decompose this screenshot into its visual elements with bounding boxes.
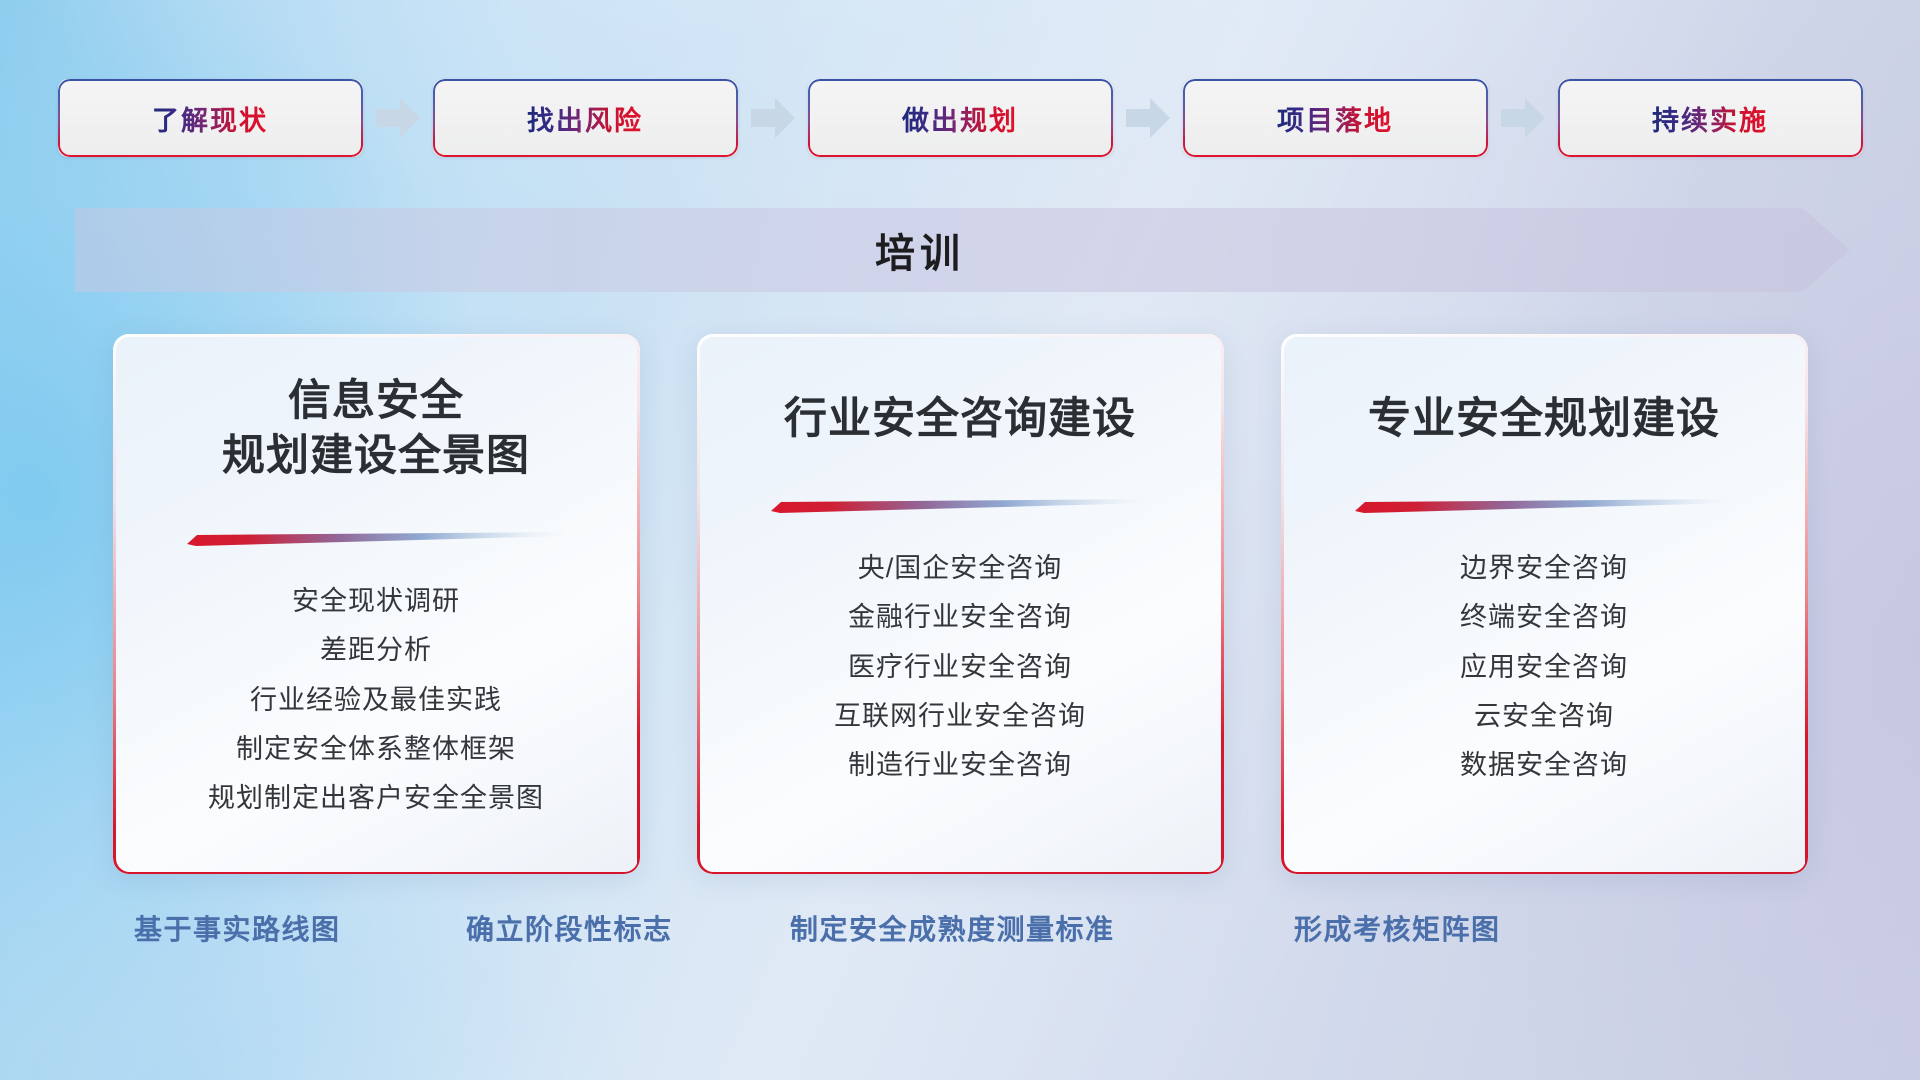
process-step-label: 做出规划: [902, 99, 1018, 138]
list-item: 云安全咨询: [1474, 697, 1614, 735]
card-0[interactable]: 信息安全 规划建设全景图: [113, 334, 640, 874]
card-item-list: 安全现状调研 差距分析 行业经验及最佳实践 制定安全体系整体框架 规划制定出客户…: [139, 582, 614, 818]
process-step-4[interactable]: 持续实施: [1558, 79, 1863, 157]
process-step-1[interactable]: 找出风险: [433, 79, 738, 157]
footer-label-2: 制定安全成熟度测量标准: [790, 908, 1115, 948]
training-band-label: 培训: [75, 208, 1765, 292]
card-1[interactable]: 行业安全咨询建设: [697, 334, 1224, 874]
list-item: 规划制定出客户安全全景图: [208, 779, 544, 817]
list-item: 互联网行业安全咨询: [834, 697, 1086, 735]
list-item: 金融行业安全咨询: [848, 598, 1072, 636]
arrow-right-icon: [363, 78, 433, 158]
list-item: 行业经验及最佳实践: [250, 681, 502, 719]
list-item: 医疗行业安全咨询: [848, 648, 1072, 686]
card-title: 行业安全咨询建设: [784, 392, 1136, 447]
list-item: 终端安全咨询: [1460, 598, 1628, 636]
card-title: 信息安全 规划建设全景图: [222, 374, 530, 484]
list-item: 安全现状调研: [292, 582, 460, 620]
list-item: 制造行业安全咨询: [848, 746, 1072, 784]
footer-label-1: 确立阶段性标志: [466, 908, 673, 948]
arrow-right-icon: [1488, 78, 1558, 158]
list-item: 边界安全咨询: [1460, 549, 1628, 587]
process-step-label: 持续实施: [1652, 99, 1768, 138]
process-step-0[interactable]: 了解现状: [58, 79, 363, 157]
card-title: 专业安全规划建设: [1368, 392, 1720, 447]
card-item-list: 边界安全咨询 终端安全咨询 应用安全咨询 云安全咨询 数据安全咨询: [1307, 549, 1782, 785]
footer-label-row: 基于事实路线图 确立阶段性标志 制定安全成熟度测量标准 形成考核矩阵图: [0, 908, 1920, 968]
process-step-2[interactable]: 做出规划: [808, 79, 1113, 157]
gradient-divider-icon: [771, 497, 1150, 513]
arrow-right-icon: [1113, 78, 1183, 158]
card-row: 信息安全 规划建设全景图: [0, 334, 1920, 874]
process-step-3[interactable]: 项目落地: [1183, 79, 1488, 157]
list-item: 差距分析: [320, 631, 432, 669]
list-item: 数据安全咨询: [1460, 746, 1628, 784]
card-item-list: 央/国企安全咨询 金融行业安全咨询 医疗行业安全咨询 互联网行业安全咨询 制造行…: [723, 549, 1198, 785]
process-step-label: 了解现状: [152, 99, 268, 138]
process-step-label: 找出风险: [527, 99, 643, 138]
footer-label-3: 形成考核矩阵图: [1294, 908, 1501, 948]
card-2[interactable]: 专业安全规划建设: [1281, 334, 1808, 874]
gradient-divider-icon: [1355, 497, 1734, 513]
gradient-divider-icon: [187, 530, 566, 546]
process-step-row: 了解现状 找出风险 做出规划 项目落地 持续实施: [0, 78, 1920, 158]
footer-label-0: 基于事实路线图: [134, 908, 341, 948]
list-item: 制定安全体系整体框架: [236, 730, 516, 768]
arrow-right-icon: [738, 78, 808, 158]
list-item: 央/国企安全咨询: [858, 549, 1063, 587]
training-band: 培训: [75, 208, 1850, 292]
process-step-label: 项目落地: [1277, 99, 1393, 138]
list-item: 应用安全咨询: [1460, 648, 1628, 686]
